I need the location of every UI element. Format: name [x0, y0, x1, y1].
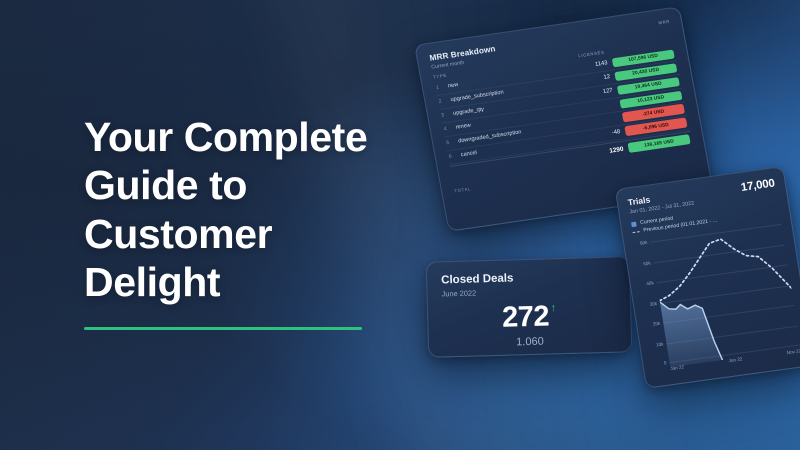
x-tick-label: Nov 22 [786, 348, 800, 355]
y-tick-label: 0 [653, 360, 667, 367]
row-licenses [580, 119, 618, 124]
title-line-1: Your Complete [84, 113, 424, 161]
legend-swatch-dashed-icon [633, 231, 640, 233]
y-tick-label: 20k [647, 321, 661, 328]
row-licenses: 12 [572, 74, 611, 85]
closed-deals-card-wrapper: Closed Deals June 2022 272 ↑ 1.060 [426, 256, 633, 358]
title-accent-rule [84, 327, 362, 330]
closed-deals-title: Closed Deals [441, 270, 615, 287]
trials-chart-svg [650, 219, 800, 367]
x-tick-label: Jan 22 [670, 364, 684, 371]
title-line-3: Customer [84, 210, 424, 258]
row-licenses: -48 [582, 129, 621, 140]
closed-deals-figure: 272 ↑ [442, 301, 617, 335]
y-tick-label: 40k [641, 280, 655, 287]
row-index: 2 [438, 98, 446, 105]
row-licenses [578, 105, 616, 110]
closed-deals-period: June 2022 [441, 285, 615, 299]
slide-canvas: Your Complete Guide to Customer Delight … [0, 0, 800, 450]
y-tick-label: 10k [650, 341, 664, 348]
row-index: 1 [436, 85, 444, 92]
title-line-4: Delight [84, 258, 424, 306]
previous-period-line [651, 231, 791, 306]
closed-deals-card[interactable]: Closed Deals June 2022 272 ↑ 1.060 [426, 256, 633, 358]
arrow-up-icon: ↑ [551, 302, 557, 314]
row-index: 5 [446, 140, 454, 147]
row-licenses: 1143 [569, 61, 608, 72]
trials-total-value: 17,000 [740, 177, 776, 193]
page-title: Your Complete Guide to Customer Delight [84, 113, 424, 307]
row-index: 3 [441, 112, 449, 119]
row-index: 6 [449, 153, 457, 160]
y-tick-label: 50k [637, 260, 651, 267]
closed-deals-value: 272 [502, 302, 550, 332]
total-licenses: 1290 [585, 145, 624, 157]
y-tick-label: 30k [644, 301, 658, 308]
title-line-2: Guide to [84, 161, 424, 209]
trials-plot-area: 60k 50k 40k 30k 20k 10k 0 [634, 219, 800, 366]
y-tick-label: 60k [634, 240, 648, 247]
mrr-column-label: MRR [658, 19, 670, 26]
row-licenses: 127 [575, 88, 614, 99]
trials-card-wrapper: Trials Jan 01, 2022 - Jul 31, 2022 17,00… [615, 166, 800, 389]
current-period-area [660, 295, 723, 367]
legend-swatch-solid-icon [631, 221, 637, 227]
trials-card[interactable]: Trials Jan 01, 2022 - Jul 31, 2022 17,00… [615, 166, 800, 389]
row-index: 4 [443, 126, 451, 133]
closed-deals-comparison: 1.060 [443, 334, 617, 351]
x-tick-label: Jun 22 [728, 356, 742, 363]
